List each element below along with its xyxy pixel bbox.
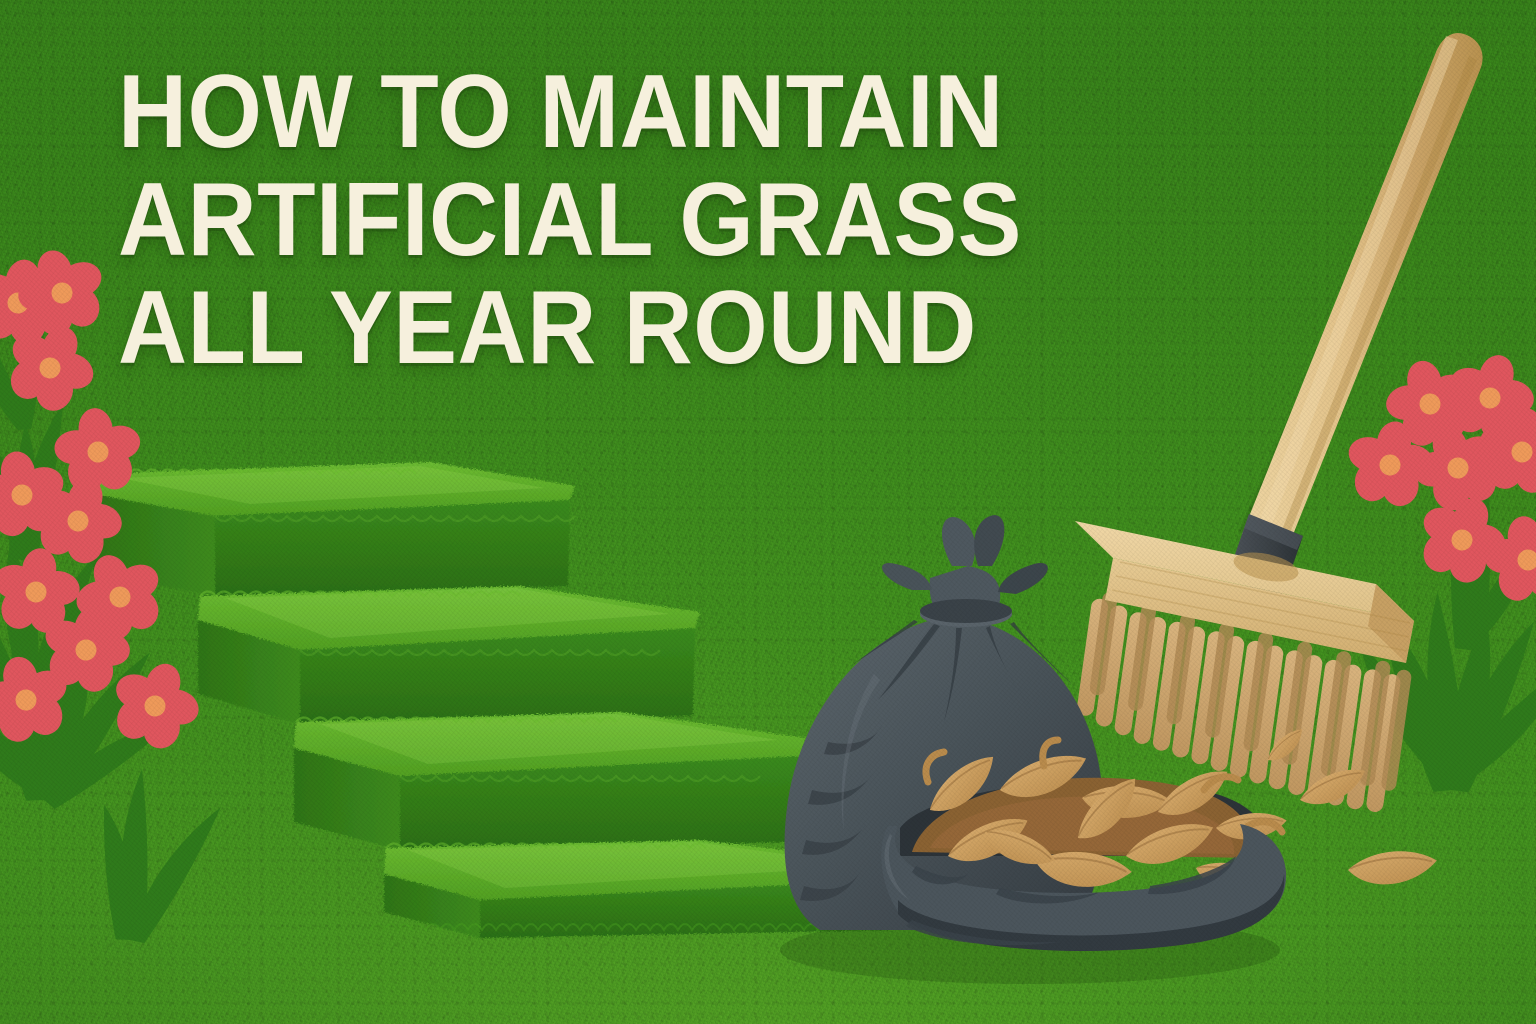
title-line-3: ALL YEAR ROUND bbox=[118, 278, 1056, 380]
page-title: HOW TO MAINTAIN ARTIFICIAL GRASS ALL YEA… bbox=[118, 62, 1138, 380]
scattered-leaves bbox=[1262, 727, 1438, 890]
scattered-leaf-2 bbox=[1347, 846, 1438, 890]
scattered-leaf-1 bbox=[1296, 766, 1370, 808]
poster-canvas: HOW TO MAINTAIN ARTIFICIAL GRASS ALL YEA… bbox=[0, 0, 1536, 1024]
title-line-1: HOW TO MAINTAIN bbox=[118, 62, 1056, 164]
title-line-2: ARTIFICIAL GRASS bbox=[118, 170, 1056, 272]
scattered-leaf-3 bbox=[1262, 727, 1310, 765]
